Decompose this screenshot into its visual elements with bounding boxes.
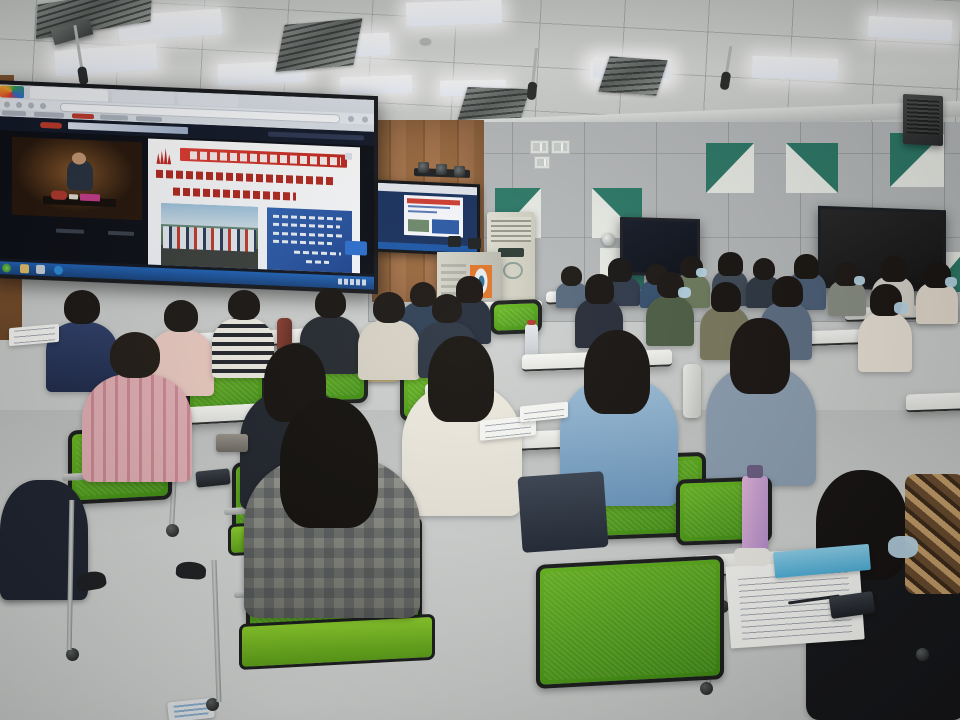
slide-heading-line <box>156 170 334 186</box>
taskbar-browser-icon[interactable] <box>54 266 63 275</box>
wall-socket-panel[interactable] <box>530 140 549 154</box>
secondary-slide-quote <box>432 219 459 234</box>
person-hair <box>718 252 743 276</box>
podium-monitor <box>468 238 481 249</box>
site-title-text <box>68 122 188 134</box>
person-torso <box>858 312 912 372</box>
audience-member <box>706 318 816 486</box>
draped-coat <box>517 471 608 553</box>
browser-tab[interactable] <box>178 93 238 108</box>
camera-icon <box>418 162 429 173</box>
water-bottle <box>742 476 768 558</box>
classroom-photo-scene <box>0 0 960 720</box>
person-hair <box>772 276 803 307</box>
taskbar-clock <box>338 278 368 285</box>
ac-grille <box>491 217 531 242</box>
person-hair <box>164 300 198 332</box>
person-hair <box>881 256 907 282</box>
thermos <box>683 364 701 418</box>
secondary-slide-photo <box>408 219 428 232</box>
secondary-wall-display[interactable] <box>375 180 480 257</box>
ceiling-air-vent <box>276 18 363 72</box>
chair-caster <box>916 648 929 661</box>
secondary-screen-surface <box>378 183 477 253</box>
menu-icon[interactable] <box>362 116 368 122</box>
slide-subheading-line <box>173 187 296 201</box>
live-video-feed <box>12 137 142 220</box>
podium-monitor <box>448 236 461 247</box>
feed-caption <box>108 231 134 236</box>
home-icon[interactable] <box>40 103 46 109</box>
desk <box>906 390 960 413</box>
person-hair <box>432 294 462 323</box>
water-bottle <box>525 324 538 358</box>
slide-title-band <box>180 148 347 168</box>
person-hair <box>730 318 790 394</box>
chair-back <box>536 555 724 689</box>
ac-fan-ring <box>503 262 522 279</box>
face-mask <box>696 268 707 277</box>
secondary-slide-line <box>408 210 437 213</box>
browser-logo-icon <box>0 85 24 98</box>
taskbar-app-icon[interactable] <box>20 264 29 273</box>
ceiling-air-vent <box>598 56 667 95</box>
secondary-slide-title <box>407 198 459 205</box>
bookmark-item[interactable] <box>2 110 26 116</box>
secondary-slide <box>404 194 463 238</box>
wall-camera-icon <box>602 233 615 246</box>
start-menu-icon[interactable] <box>2 263 11 272</box>
audience-member <box>916 262 958 324</box>
site-badge <box>40 122 62 129</box>
ceiling-light-panel <box>868 16 953 41</box>
wall-socket-panel[interactable] <box>534 156 550 169</box>
main-projection-screen[interactable] <box>0 80 378 294</box>
person-hair <box>64 290 100 324</box>
face-mask <box>945 277 957 287</box>
chair[interactable] <box>536 555 724 689</box>
ceiling-light-panel <box>752 56 839 81</box>
person-hair <box>373 292 405 323</box>
video-quality-badge[interactable] <box>345 241 367 256</box>
podium-banner <box>80 193 101 201</box>
person-hair <box>585 274 614 304</box>
audience-member <box>858 284 912 372</box>
person-torso <box>82 374 192 482</box>
forward-icon[interactable] <box>16 102 22 108</box>
camera-icon <box>454 166 465 177</box>
name-plate <box>69 194 78 200</box>
secondary-slide-line <box>408 205 450 209</box>
person-hair <box>584 330 650 414</box>
person-torso <box>916 282 958 324</box>
ceiling-light-panel <box>406 0 503 27</box>
screen-surface <box>0 84 374 290</box>
audience-member <box>82 332 192 482</box>
acoustic-panel-triangle <box>786 143 838 193</box>
feed-caption <box>56 229 84 234</box>
desk-caster <box>166 524 179 537</box>
person-hair <box>428 336 494 422</box>
slide-corner-icon <box>345 152 352 159</box>
flower-arrangement <box>51 191 67 200</box>
site-search-field[interactable] <box>268 131 364 140</box>
star-icon[interactable] <box>348 116 354 122</box>
taskbar-app-icon[interactable] <box>36 265 45 274</box>
person-hair <box>228 290 260 320</box>
wall-socket-panel[interactable] <box>551 140 570 154</box>
face-mask <box>678 287 691 298</box>
acoustic-panel-triangle <box>706 143 754 193</box>
camera-icon <box>436 164 447 175</box>
ac-display <box>498 248 525 257</box>
slide-photo <box>161 203 259 269</box>
wall-speaker <box>903 94 943 146</box>
leopard-print-sleeve <box>905 474 960 594</box>
desk-caster <box>700 682 713 695</box>
bookmark-item[interactable] <box>72 113 94 119</box>
face-mask <box>888 536 918 558</box>
person-hair <box>280 398 378 528</box>
smoke-detector-icon <box>420 38 431 44</box>
speaker-head <box>72 153 86 165</box>
person-hair <box>711 282 741 312</box>
video-stage <box>0 130 374 274</box>
tissue <box>734 548 770 566</box>
shoe <box>175 561 206 580</box>
red-seal-icon <box>156 146 171 165</box>
bottle-cap <box>747 465 764 477</box>
face-mask <box>894 302 908 314</box>
audience-member <box>0 420 88 600</box>
person-hair <box>110 332 160 378</box>
person-torso <box>0 480 88 600</box>
reload-icon[interactable] <box>28 102 34 108</box>
ceiling-light-panel <box>340 75 413 96</box>
slide-quote-box <box>267 208 352 273</box>
back-icon[interactable] <box>4 101 10 107</box>
audience-member <box>244 398 420 618</box>
person-hair <box>315 288 346 318</box>
secondary-browser-chrome <box>378 183 477 195</box>
